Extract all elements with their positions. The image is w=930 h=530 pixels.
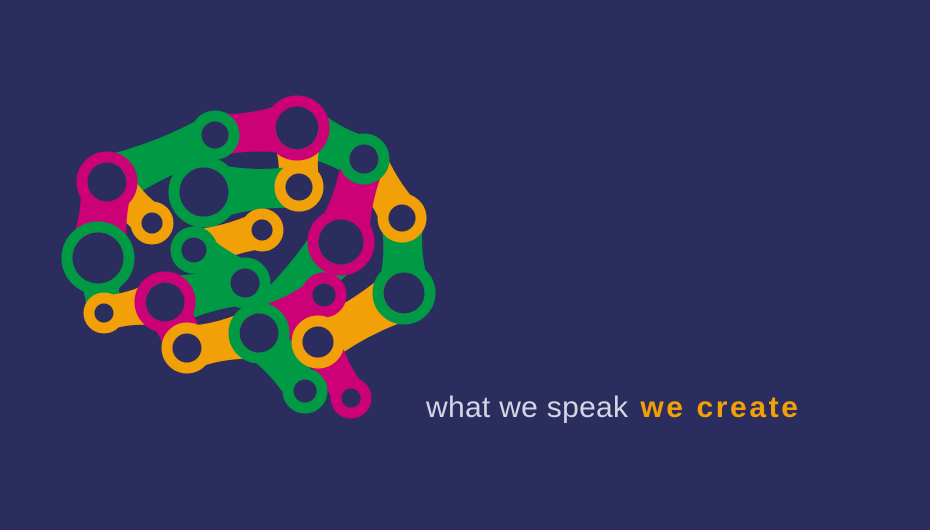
network-node-center xyxy=(389,205,416,232)
network-node-center xyxy=(294,380,317,403)
network-node-center xyxy=(180,168,229,217)
network-node-center xyxy=(142,213,163,234)
network-node-center xyxy=(350,145,379,174)
network-node-center xyxy=(202,122,229,149)
network-node-center xyxy=(286,174,313,201)
tagline: what we speak we create xyxy=(426,391,801,431)
network-node-center xyxy=(319,220,364,265)
logo-canvas: what we speak we create xyxy=(0,0,930,530)
network-node-center xyxy=(384,273,425,314)
network-node-center xyxy=(173,334,202,363)
brain-network-svg xyxy=(52,95,442,440)
network-node-center xyxy=(182,238,207,263)
network-node-center xyxy=(231,269,260,298)
network-node-center xyxy=(252,220,273,241)
tagline-bold-text: we create xyxy=(640,391,800,425)
network-node-center xyxy=(313,284,336,307)
network-node-center xyxy=(240,314,279,353)
brain-network-logo xyxy=(52,95,442,440)
network-node-center xyxy=(342,389,361,408)
network-node-center xyxy=(73,233,124,284)
network-node-center xyxy=(95,304,114,323)
network-node-center xyxy=(88,163,127,202)
network-node-center xyxy=(303,327,334,358)
tagline-light-text: what we speak xyxy=(426,391,628,425)
network-node-center xyxy=(146,283,185,322)
network-node-center xyxy=(276,107,319,150)
